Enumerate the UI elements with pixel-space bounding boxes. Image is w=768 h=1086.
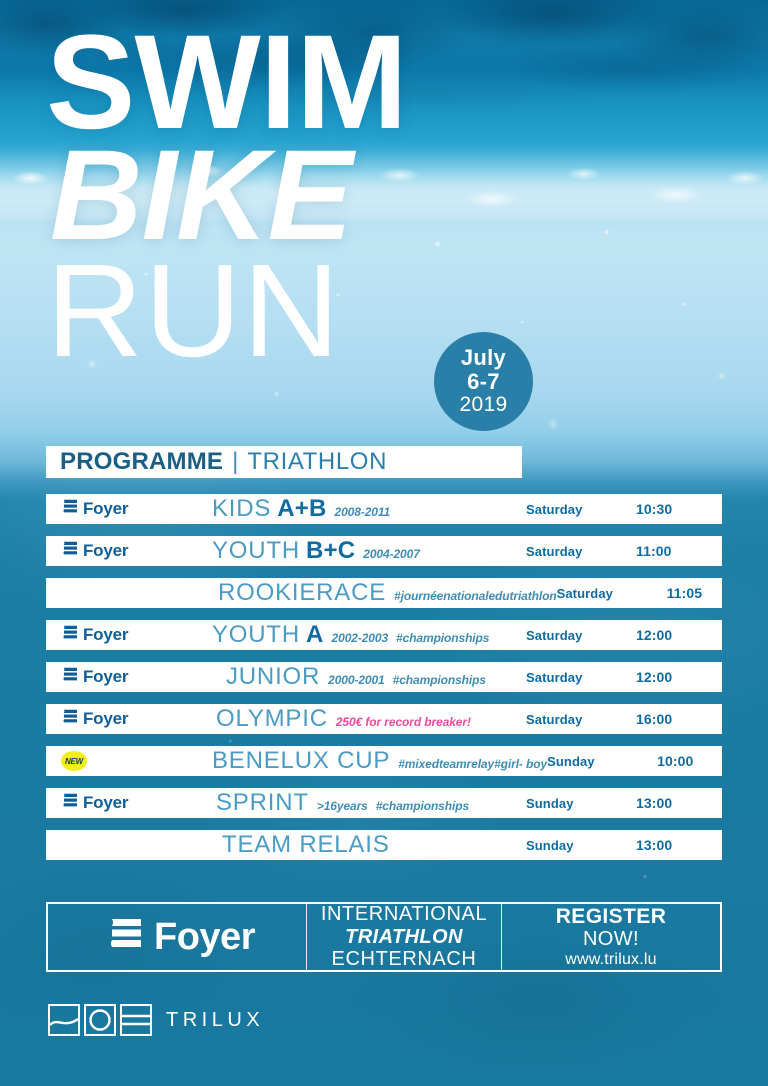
programme-row: FoyerJUNIOR2000-2001#championshipsSaturd… xyxy=(46,662,722,692)
foyer-label: Foyer xyxy=(83,793,128,813)
event-age-range: 2004-2007 xyxy=(363,547,420,561)
footer-event-name: INTERNATIONAL TRIATHLON ECHTERNACH xyxy=(306,904,502,970)
footer-foyer-label: Foyer xyxy=(154,918,255,956)
event-tag: #journéenationaledutriathlon xyxy=(394,589,557,603)
programme-row-list: FoyerKIDSA+B2008-2011Saturday10:30FoyerY… xyxy=(46,494,722,872)
foyer-sponsor-lockup: Foyer xyxy=(58,666,128,689)
event-time: 11:05 xyxy=(667,585,753,601)
trilux-logo: TRILUX xyxy=(48,1004,264,1036)
event-tag: #championships xyxy=(393,673,486,687)
event-name: SPRINT xyxy=(216,789,309,817)
event-tag: #mixedteamrelay#girl- boy xyxy=(398,757,547,771)
event-day: Sunday xyxy=(526,796,636,811)
event-name: JUNIOR xyxy=(226,663,320,691)
new-badge-label: NEW xyxy=(65,757,83,766)
row-brand-cell: NEW xyxy=(46,751,204,771)
poster-headline: SWIM BIKE RUN xyxy=(46,28,407,365)
programme-row: FoyerYOUTHA2002-2003#championshipsSaturd… xyxy=(46,620,722,650)
row-title-cell: OLYMPIC250€ for record breaker! xyxy=(204,705,526,733)
foyer-label: Foyer xyxy=(83,709,128,729)
event-tag: #championships xyxy=(376,799,469,813)
event-day: Saturday xyxy=(557,586,667,601)
footer-register-cta[interactable]: REGISTER NOW! www.trilux.lu xyxy=(502,904,720,970)
date-days: 6-7 xyxy=(467,371,500,393)
foyer-sponsor-lockup: Foyer xyxy=(58,792,128,815)
row-title-cell: KIDSA+B2008-2011 xyxy=(204,495,526,523)
row-title-cell: TEAM RELAIS xyxy=(204,831,526,859)
event-tag: 250€ for record breaker! xyxy=(336,715,471,729)
row-brand-cell: Foyer xyxy=(46,498,204,521)
event-name: OLYMPIC xyxy=(216,705,328,733)
programme-title: PROGRAMME xyxy=(60,448,223,476)
event-name: KIDS xyxy=(212,495,271,523)
row-brand-cell: Foyer xyxy=(46,708,204,731)
row-title-cell: YOUTHB+C2004-2007 xyxy=(204,537,526,565)
event-age-range: 2008-2011 xyxy=(335,505,391,519)
event-time: 13:00 xyxy=(636,795,722,811)
poster: SWIM BIKE RUN July 6-7 2019 PROGRAMME | … xyxy=(0,0,768,1086)
foyer-sponsor-lockup: Foyer xyxy=(58,498,128,521)
date-month: July xyxy=(461,347,506,369)
programme-row: NEWBENELUX CUP#mixedteamrelay#girl- boyS… xyxy=(46,746,722,776)
event-name: ROOKIERACE xyxy=(218,579,386,607)
headline-bike: BIKE xyxy=(50,144,407,249)
event-age-range: 2002-2003 xyxy=(332,631,389,645)
event-time: 13:00 xyxy=(636,837,722,853)
foyer-logo-icon xyxy=(58,708,78,731)
footer-event-line1: INTERNATIONAL xyxy=(321,903,487,925)
headline-swim: SWIM xyxy=(46,28,407,138)
event-day: Saturday xyxy=(526,712,636,727)
programme-row: FoyerSPRINT>16years#championshipsSunday1… xyxy=(46,788,722,818)
footer-event-line3: ECHTERNACH xyxy=(332,948,477,970)
foyer-sponsor-lockup: Foyer xyxy=(58,624,128,647)
event-name: BENELUX CUP xyxy=(212,747,390,775)
date-year: 2019 xyxy=(460,394,508,415)
foyer-sponsor-lockup: Foyer xyxy=(58,708,128,731)
event-day: Saturday xyxy=(526,544,636,559)
foyer-logo-icon xyxy=(58,792,78,815)
event-time: 12:00 xyxy=(636,627,722,643)
event-name: YOUTH xyxy=(212,621,300,649)
foyer-label: Foyer xyxy=(83,667,128,687)
event-day: Sunday xyxy=(526,838,636,853)
row-brand-cell: Foyer xyxy=(46,540,204,563)
event-time: 12:00 xyxy=(636,669,722,685)
event-category: A+B xyxy=(277,495,326,523)
event-time: 16:00 xyxy=(636,711,722,727)
programme-header: PROGRAMME | TRIATHLON xyxy=(46,446,522,478)
row-title-cell: SPRINT>16years#championships xyxy=(204,789,526,817)
foyer-label: Foyer xyxy=(83,541,128,561)
event-name: YOUTH xyxy=(212,537,300,565)
event-age-range: >16years xyxy=(317,799,368,813)
programme-row: FoyerYOUTHB+C2004-2007Saturday11:00 xyxy=(46,536,722,566)
trilux-wave-icon xyxy=(48,1004,80,1036)
trilux-wordmark: TRILUX xyxy=(166,1009,264,1032)
trilux-logo-marks xyxy=(48,1004,152,1036)
trilux-circle-icon xyxy=(84,1004,116,1036)
headline-run: RUN xyxy=(46,257,414,365)
trilux-bars-icon xyxy=(120,1004,152,1036)
event-day: Saturday xyxy=(526,628,636,643)
event-time: 10:00 xyxy=(657,753,743,769)
register-headline: REGISTER xyxy=(556,905,667,928)
programme-row: FoyerKIDSA+B2008-2011Saturday10:30 xyxy=(46,494,722,524)
programme-subtitle: TRIATHLON xyxy=(247,448,387,476)
footer-event-line2: TRIATHLON xyxy=(345,926,463,948)
foyer-logo-icon xyxy=(58,624,78,647)
event-category: A xyxy=(306,621,324,649)
footer-sponsor-foyer: Foyer xyxy=(48,904,306,970)
foyer-label: Foyer xyxy=(83,625,128,645)
row-brand-cell: Foyer xyxy=(46,666,204,689)
row-brand-cell: Foyer xyxy=(46,624,204,647)
event-tag: #championships xyxy=(396,631,489,645)
event-category: B+C xyxy=(306,537,355,565)
register-url-link[interactable]: www.trilux.lu xyxy=(565,951,657,969)
event-day: Sunday xyxy=(547,754,657,769)
event-age-range: 2000-2001 xyxy=(328,673,385,687)
event-time: 10:30 xyxy=(636,501,722,517)
row-brand-cell: Foyer xyxy=(46,792,204,815)
row-title-cell: ROOKIERACE#journéenationaledutriathlon xyxy=(204,579,557,607)
row-title-cell: BENELUX CUP#mixedteamrelay#girl- boy xyxy=(204,747,547,775)
event-name: TEAM RELAIS xyxy=(222,831,390,859)
foyer-logo-icon xyxy=(58,498,78,521)
register-subline: NOW! xyxy=(583,928,639,950)
event-day: Saturday xyxy=(526,502,636,517)
foyer-logo-icon xyxy=(99,915,143,960)
event-day: Saturday xyxy=(526,670,636,685)
foyer-sponsor-lockup: Foyer xyxy=(58,540,128,563)
programme-row: FoyerOLYMPIC250€ for record breaker!Satu… xyxy=(46,704,722,734)
row-title-cell: JUNIOR2000-2001#championships xyxy=(204,663,526,691)
foyer-logo-icon xyxy=(58,666,78,689)
programme-separator: | xyxy=(232,448,238,476)
programme-row: ROOKIERACE#journéenationaledutriathlonSa… xyxy=(46,578,722,608)
foyer-logo-icon xyxy=(58,540,78,563)
footer-panel: Foyer INTERNATIONAL TRIATHLON ECHTERNACH… xyxy=(46,902,722,972)
programme-row: TEAM RELAISSunday13:00 xyxy=(46,830,722,860)
foyer-label: Foyer xyxy=(83,499,128,519)
event-time: 11:00 xyxy=(636,543,722,559)
new-badge: NEW xyxy=(61,751,87,771)
row-title-cell: YOUTHA2002-2003#championships xyxy=(204,621,526,649)
date-badge: July 6-7 2019 xyxy=(434,332,533,431)
